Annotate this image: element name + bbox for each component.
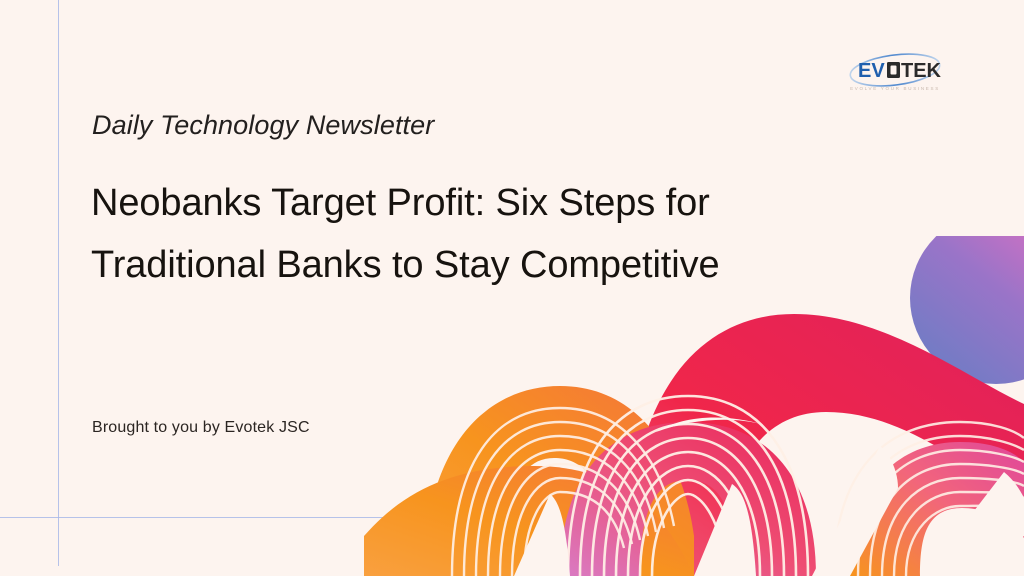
headline-line-2: Traditional Banks to Stay Competitive xyxy=(91,234,851,296)
headline-line-1: Neobanks Target Profit: Six Steps for xyxy=(91,172,851,234)
eyebrow-text: Daily Technology Newsletter xyxy=(92,110,434,141)
logo-o-counter xyxy=(891,66,897,75)
newsletter-cover-slide: EV TEK EVOLVE YOUR BUSINESS Daily Techno… xyxy=(0,0,1024,576)
evotek-logo: EV TEK EVOLVE YOUR BUSINESS xyxy=(845,44,945,106)
guide-line-vertical xyxy=(58,0,59,566)
page-title: Neobanks Target Profit: Six Steps for Tr… xyxy=(91,172,851,296)
attribution-text: Brought to you by Evotek JSC xyxy=(92,419,310,437)
logo-wordmark-ev: EV xyxy=(858,60,885,82)
guide-line-horizontal xyxy=(0,517,402,518)
logo-wordmark-tek: TEK xyxy=(901,60,942,82)
logo-tagline: EVOLVE YOUR BUSINESS xyxy=(850,86,940,91)
